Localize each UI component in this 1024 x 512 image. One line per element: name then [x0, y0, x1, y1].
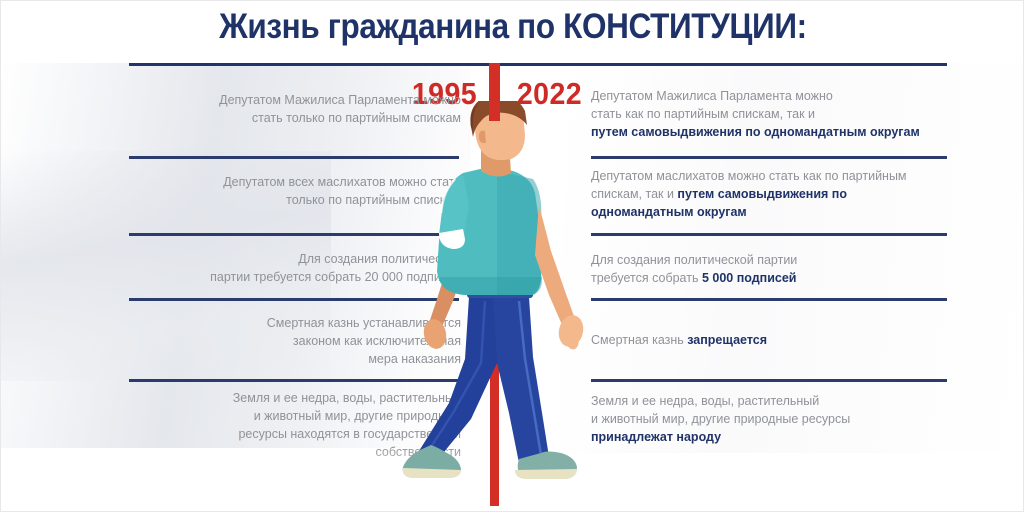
top-divider-rule [129, 63, 947, 66]
back-hand [421, 317, 449, 351]
center-timeline-bar-top [489, 63, 500, 121]
row-divider-right-2 [591, 233, 947, 236]
front-shoe-sole [515, 469, 577, 479]
row-5-right-highlight: принадлежат народу [591, 430, 721, 444]
row-2-right-text: Депутатом маслихатов можно стать как по … [591, 167, 955, 221]
row-5-right-line-1: Земля и ее недра, воды, растительный [591, 394, 819, 408]
row-5-right-line-2: и животный мир, другие природные ресурсы [591, 412, 850, 426]
row-5-right-text: Земля и ее недра, воды, растительный и ж… [591, 392, 955, 446]
row-4-right-text: Смертная казнь запрещается [591, 331, 955, 349]
row-4-right-highlight: запрещается [687, 333, 767, 347]
row-divider-right-1 [591, 156, 947, 159]
row-3-right-highlight: 5 000 подписей [702, 271, 797, 285]
row-2-right-line-1: Депутатом маслихатов можно стать как по … [591, 169, 907, 183]
row-4-right-line-1: Смертная казнь [591, 333, 687, 347]
row-3-right-line-1: Для создания политической партии [591, 253, 797, 267]
infographic-canvas: Жизнь гражданина по КОНСТИТУЦИИ: 1995 20… [0, 0, 1024, 512]
row-3-right-text: Для создания политической партии требует… [591, 251, 955, 287]
row-2-right-highlight-a: путем самовыдвижения по [677, 187, 847, 201]
row-2-right-highlight-b: одномандатным округам [591, 205, 747, 219]
row-divider-right-4 [591, 379, 947, 382]
row-1-right-line-1: Депутатом Мажилиса Парламента можно [591, 89, 833, 103]
row-2-right-line-2: спискам, так и [591, 187, 677, 201]
front-arm [535, 205, 575, 327]
page-title: Жизнь гражданина по КОНСТИТУЦИИ: [52, 7, 974, 47]
tshirt-hem [439, 277, 542, 295]
walking-man-illustration [393, 101, 603, 491]
row-1-right-line-2: стать как по партийным спискам, так и [591, 107, 815, 121]
row-1-right-highlight: путем самовыдвижения по одномандатным ок… [591, 125, 920, 139]
row-3-right-line-2: требуется собрать [591, 271, 702, 285]
row-divider-right-3 [591, 298, 947, 301]
row-1-right-text: Депутатом Мажилиса Парламента можно стат… [591, 87, 955, 141]
tshirt-shade [497, 171, 541, 295]
